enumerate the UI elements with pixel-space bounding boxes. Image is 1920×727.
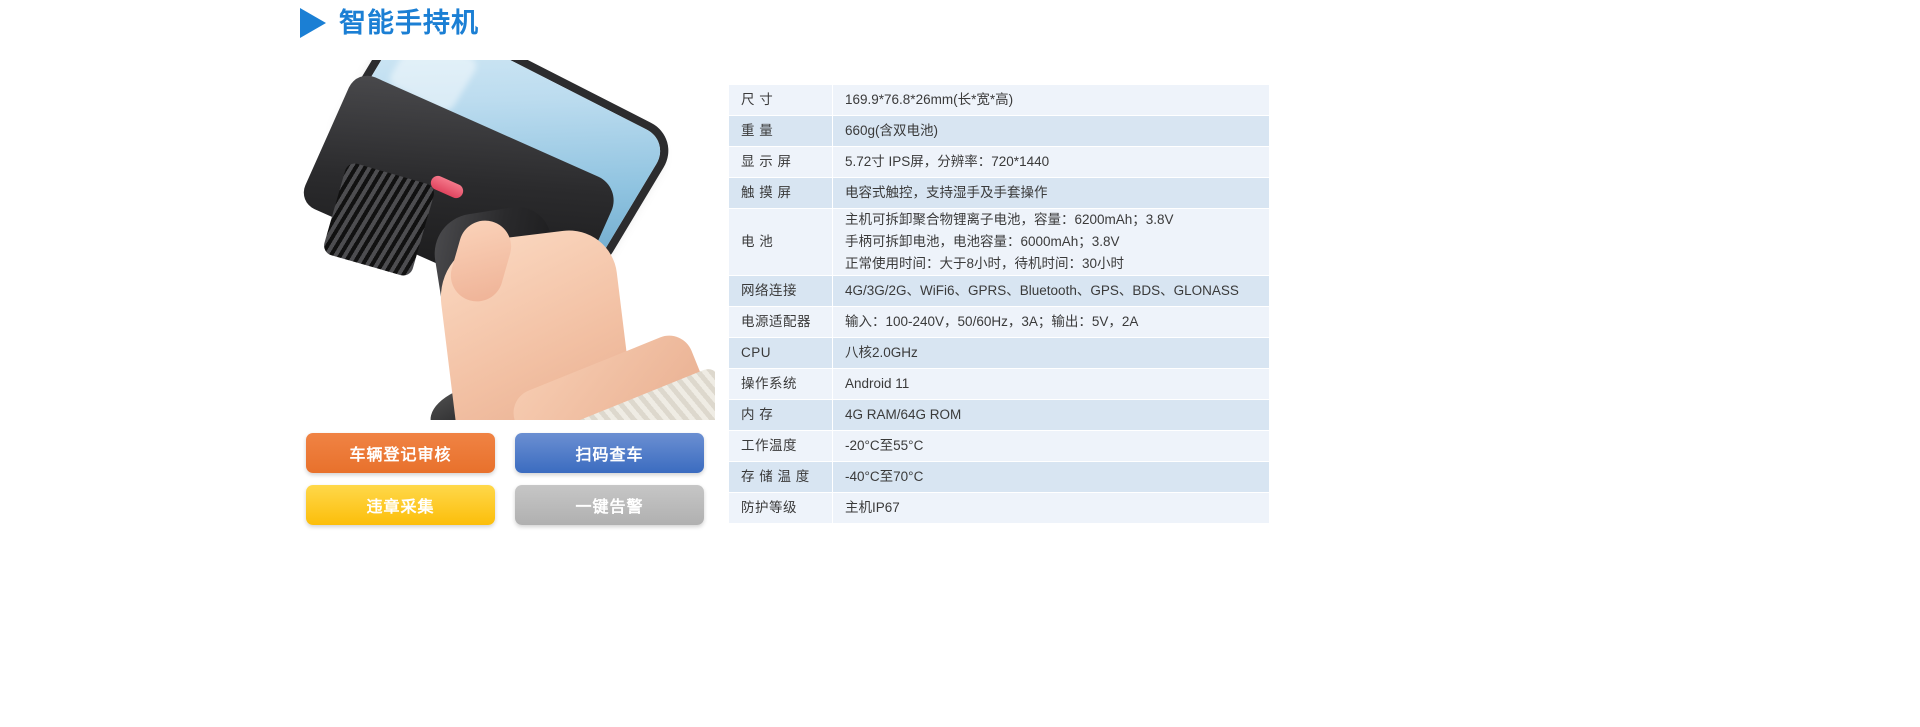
table-row: 电源适配器 输入：100-240V，50/60Hz，3A；输出：5V，2A (729, 306, 1270, 337)
spec-value: -40°C至70°C (833, 461, 1270, 492)
table-row: CPU 八核2.0GHz (729, 337, 1270, 368)
table-row: 工作温度 -20°C至55°C (729, 430, 1270, 461)
spec-key: 尺 寸 (729, 85, 833, 116)
table-row: 重 量 660g(含双电池) (729, 116, 1270, 147)
play-triangle-icon (300, 8, 326, 38)
spec-value: -20°C至55°C (833, 430, 1270, 461)
table-row: 防护等级 主机IP67 (729, 492, 1270, 523)
table-row: 电 池 主机可拆卸聚合物锂离子电池，容量：6200mAh；3.8V 手柄可拆卸电… (729, 209, 1270, 276)
table-row: 显 示 屏 5.72寸 IPS屏，分辨率：720*1440 (729, 147, 1270, 178)
table-row: 网络连接 4G/3G/2G、WiFi6、GPRS、Bluetooth、GPS、B… (729, 275, 1270, 306)
spec-value-line: 正常使用时间：大于8小时，待机时间：30小时 (845, 253, 1257, 275)
left-column: 车辆登记审核 扫码查车 违章采集 一键告警 (295, 60, 715, 540)
spec-key: CPU (729, 337, 833, 368)
spec-key: 电 池 (729, 209, 833, 276)
spec-value: 660g(含双电池) (833, 116, 1270, 147)
table-row: 内 存 4G RAM/64G ROM (729, 399, 1270, 430)
spec-value-line: 主机可拆卸聚合物锂离子电池，容量：6200mAh；3.8V (845, 209, 1257, 231)
spec-key: 触 摸 屏 (729, 178, 833, 209)
spec-value: 5.72寸 IPS屏，分辨率：720*1440 (833, 147, 1270, 178)
spec-key: 显 示 屏 (729, 147, 833, 178)
spec-value-line: 手柄可拆卸电池，电池容量：6000mAh；3.8V (845, 231, 1257, 253)
specification-table: 尺 寸 169.9*76.8*26mm(长*宽*高) 重 量 660g(含双电池… (728, 84, 1270, 524)
spec-value: 主机IP67 (833, 492, 1270, 523)
table-row: 存 储 温 度 -40°C至70°C (729, 461, 1270, 492)
product-photo (295, 60, 715, 420)
spec-key: 重 量 (729, 116, 833, 147)
page-header: 智能手持机 (300, 8, 479, 38)
one-key-alarm-button[interactable]: 一键告警 (515, 485, 704, 525)
table-row: 操作系统 Android 11 (729, 368, 1270, 399)
spec-key: 网络连接 (729, 275, 833, 306)
table-row: 尺 寸 169.9*76.8*26mm(长*宽*高) (729, 85, 1270, 116)
spec-value: 169.9*76.8*26mm(长*宽*高) (833, 85, 1270, 116)
spec-value: Android 11 (833, 368, 1270, 399)
spec-value: 4G RAM/64G ROM (833, 399, 1270, 430)
page-title: 智能手持机 (339, 10, 479, 37)
vehicle-registration-review-button[interactable]: 车辆登记审核 (306, 433, 495, 473)
feature-button-grid: 车辆登记审核 扫码查车 违章采集 一键告警 (306, 433, 704, 525)
spec-value: 电容式触控，支持湿手及手套操作 (833, 178, 1270, 209)
product-spec-page: 智能手持机 车辆登记审核 扫码查车 违章采集 一键告警 尺 寸 169. (0, 0, 1920, 727)
spec-value: 输入：100-240V，50/60Hz，3A；输出：5V，2A (833, 306, 1270, 337)
spec-value-multiline: 主机可拆卸聚合物锂离子电池，容量：6200mAh；3.8V 手柄可拆卸电池，电池… (833, 209, 1270, 276)
spec-key: 内 存 (729, 399, 833, 430)
spec-key: 工作温度 (729, 430, 833, 461)
spec-value: 八核2.0GHz (833, 337, 1270, 368)
spec-key: 防护等级 (729, 492, 833, 523)
table-row: 触 摸 屏 电容式触控，支持湿手及手套操作 (729, 178, 1270, 209)
spec-key: 存 储 温 度 (729, 461, 833, 492)
spec-key: 电源适配器 (729, 306, 833, 337)
violation-collection-button[interactable]: 违章采集 (306, 485, 495, 525)
spec-value: 4G/3G/2G、WiFi6、GPRS、Bluetooth、GPS、BDS、GL… (833, 275, 1270, 306)
spec-key: 操作系统 (729, 368, 833, 399)
scan-code-check-vehicle-button[interactable]: 扫码查车 (515, 433, 704, 473)
